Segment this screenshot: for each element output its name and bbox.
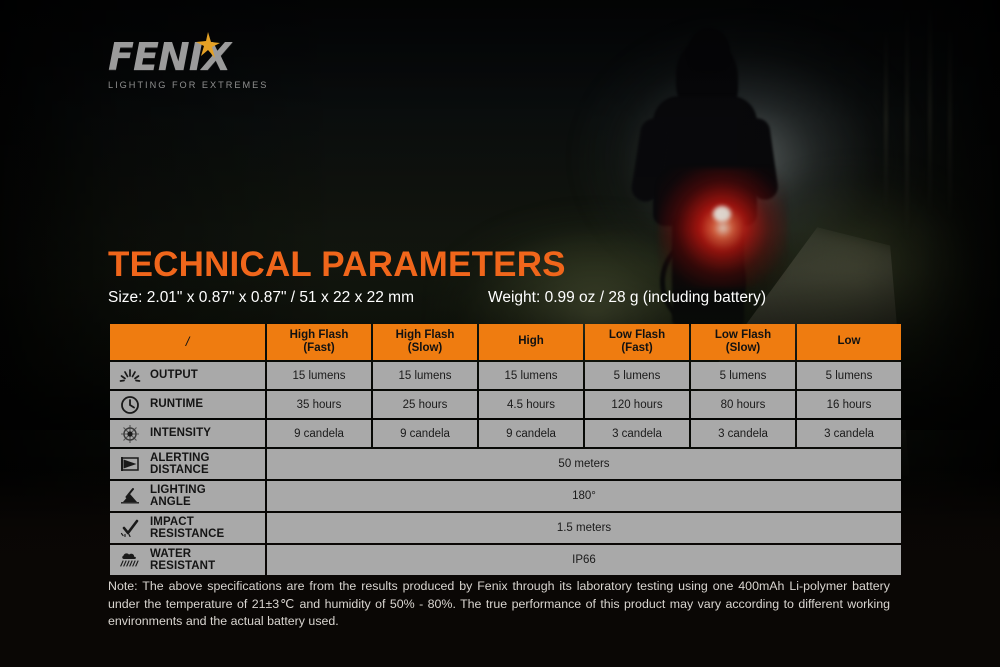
row-label-intensity: INTENSITY [110, 420, 265, 447]
brand-tagline: LIGHTING FOR EXTREMES [108, 80, 298, 90]
table-cell: 9 candela [373, 420, 477, 447]
row-label-text: IMPACT RESISTANCE [150, 516, 224, 541]
technical-parameters-table: / High Flash (Fast) High Flash (Slow) Hi… [108, 322, 903, 577]
row-label-line1: LIGHTING [150, 484, 206, 496]
size-text: Size: 2.01" x 0.87" x 0.87" / 51 x 22 x … [108, 289, 488, 307]
table-row: WATER RESISTANT IP66 [110, 545, 901, 575]
table-cell-merged: IP66 [267, 545, 901, 575]
table-cell: 15 lumens [479, 362, 583, 389]
light-rays-icon [118, 365, 142, 387]
header-label-line2: (Fast) [585, 342, 689, 355]
size-weight-line: Size: 2.01" x 0.87" x 0.87" / 51 x 22 x … [108, 289, 898, 307]
row-label-water-resistant: WATER RESISTANT [110, 545, 265, 575]
table-header-cell-2: High Flash (Slow) [373, 324, 477, 360]
row-label-line1: ALERTING [150, 452, 210, 464]
row-label-text: INTENSITY [150, 427, 211, 439]
row-label-lighting-angle: LIGHTING ANGLE [110, 481, 265, 511]
table-cell: 5 lumens [585, 362, 689, 389]
table-cell: 80 hours [691, 391, 795, 418]
row-label-text: RUNTIME [150, 398, 203, 410]
specifications-note: Note: The above specifications are from … [108, 578, 890, 631]
table-cell: 15 lumens [267, 362, 371, 389]
table-cell-merged: 50 meters [267, 449, 901, 479]
weight-text: Weight: 0.99 oz / 28 g (including batter… [488, 289, 766, 307]
table-cell: 3 candela [691, 420, 795, 447]
row-label-line2: RESISTANCE [150, 528, 224, 540]
header-label-line1: Low Flash [585, 329, 689, 342]
table-cell: 5 lumens [797, 362, 901, 389]
impact-resistance-icon [118, 517, 142, 539]
table-cell: 4.5 hours [479, 391, 583, 418]
row-label-runtime: RUNTIME [110, 391, 265, 418]
water-resistant-icon [118, 549, 142, 571]
table-header-cell-6: Low [797, 324, 901, 360]
table-cell: 9 candela [479, 420, 583, 447]
table-cell: 9 candela [267, 420, 371, 447]
star-icon [196, 32, 218, 58]
row-label-alerting-distance: ALERTING DISTANCE [110, 449, 265, 479]
row-label-line1: WATER [150, 548, 191, 560]
header-label-line1: High Flash [373, 329, 477, 342]
header-label-line1: Low Flash [691, 329, 795, 342]
beam-distance-icon [118, 453, 142, 475]
row-label-line2: RESISTANT [150, 560, 215, 572]
header-label-line1: High Flash [267, 329, 371, 342]
header-label-line2: (Slow) [373, 342, 477, 355]
table-cell-merged: 180° [267, 481, 901, 511]
row-label-text: ALERTING DISTANCE [150, 452, 210, 477]
clock-icon [118, 394, 142, 416]
row-label-line1: IMPACT [150, 516, 194, 528]
table-cell: 3 candela [585, 420, 689, 447]
target-icon [118, 423, 142, 445]
header-label-line2: (Slow) [691, 342, 795, 355]
row-label-line2: ANGLE [150, 496, 191, 508]
fenix-logo: FENIX LIGHTING FOR EXTREMES [108, 38, 298, 96]
table-header-cell-3: High [479, 324, 583, 360]
table-cell: 3 candela [797, 420, 901, 447]
table-cell-merged: 1.5 meters [267, 513, 901, 543]
table-row: RUNTIME 35 hours 25 hours 4.5 hours 120 … [110, 391, 901, 418]
table-header-cell-4: Low Flash (Fast) [585, 324, 689, 360]
row-label-text: WATER RESISTANT [150, 548, 215, 573]
lighting-angle-icon [118, 485, 142, 507]
header-label-line2: (Fast) [267, 342, 371, 355]
table-row: INTENSITY 9 candela 9 candela 9 candela … [110, 420, 901, 447]
table-cell: 25 hours [373, 391, 477, 418]
table-cell: 120 hours [585, 391, 689, 418]
table-cell: 35 hours [267, 391, 371, 418]
header-label: / [186, 334, 190, 349]
row-label-line2: DISTANCE [150, 464, 209, 476]
table-row: ALERTING DISTANCE 50 meters [110, 449, 901, 479]
table-header-cell-1: High Flash (Fast) [267, 324, 371, 360]
header-label-line1: Low [797, 335, 901, 348]
table-row: IMPACT RESISTANCE 1.5 meters [110, 513, 901, 543]
table-cell: 5 lumens [691, 362, 795, 389]
page-title: TECHNICAL PARAMETERS [108, 245, 566, 285]
row-label-text: OUTPUT [150, 369, 198, 381]
table-row: LIGHTING ANGLE 180° [110, 481, 901, 511]
header-label-line1: High [479, 335, 583, 348]
product-spec-page: FENIX LIGHTING FOR EXTREMES TECHNICAL PA… [0, 0, 1000, 667]
row-label-text: LIGHTING ANGLE [150, 484, 206, 509]
table-header-row: / High Flash (Fast) High Flash (Slow) Hi… [110, 324, 901, 360]
table-header-cell-5: Low Flash (Slow) [691, 324, 795, 360]
table-row: OUTPUT 15 lumens 15 lumens 15 lumens 5 l… [110, 362, 901, 389]
table-cell: 16 hours [797, 391, 901, 418]
row-label-output: OUTPUT [110, 362, 265, 389]
row-label-impact-resistance: IMPACT RESISTANCE [110, 513, 265, 543]
table-header-cell-0: / [110, 324, 265, 360]
table-cell: 15 lumens [373, 362, 477, 389]
